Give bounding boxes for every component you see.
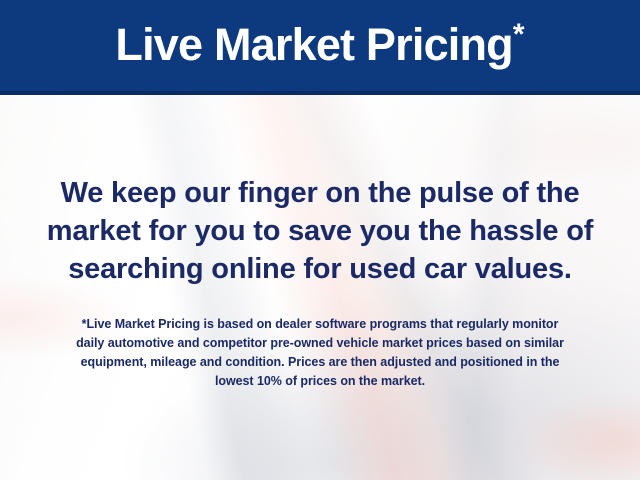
live-market-pricing-banner: Live Market Pricing* We keep our finger …: [0, 0, 640, 480]
disclaimer-line: daily automotive and competitor pre-owne…: [0, 334, 640, 353]
disclaimer-line: *Live Market Pricing is based on dealer …: [0, 315, 640, 334]
header-band: Live Market Pricing*: [0, 0, 640, 95]
headline: We keep our finger on the pulse of the m…: [0, 174, 640, 288]
headline-line: We keep our finger on the pulse of the: [0, 174, 640, 212]
disclaimer-line: lowest 10% of prices on the market.: [0, 372, 640, 391]
page-title-text: Live Market Pricing: [115, 19, 512, 70]
content-area: We keep our finger on the pulse of the m…: [0, 95, 640, 480]
page-title-asterisk: *: [513, 18, 525, 51]
page-title: Live Market Pricing*: [115, 22, 524, 70]
headline-line: searching online for used car values.: [0, 250, 640, 288]
disclaimer-line: equipment, mileage and condition. Prices…: [0, 353, 640, 372]
headline-line: market for you to save you the hassle of: [0, 212, 640, 250]
disclaimer-text: *Live Market Pricing is based on dealer …: [0, 315, 640, 391]
